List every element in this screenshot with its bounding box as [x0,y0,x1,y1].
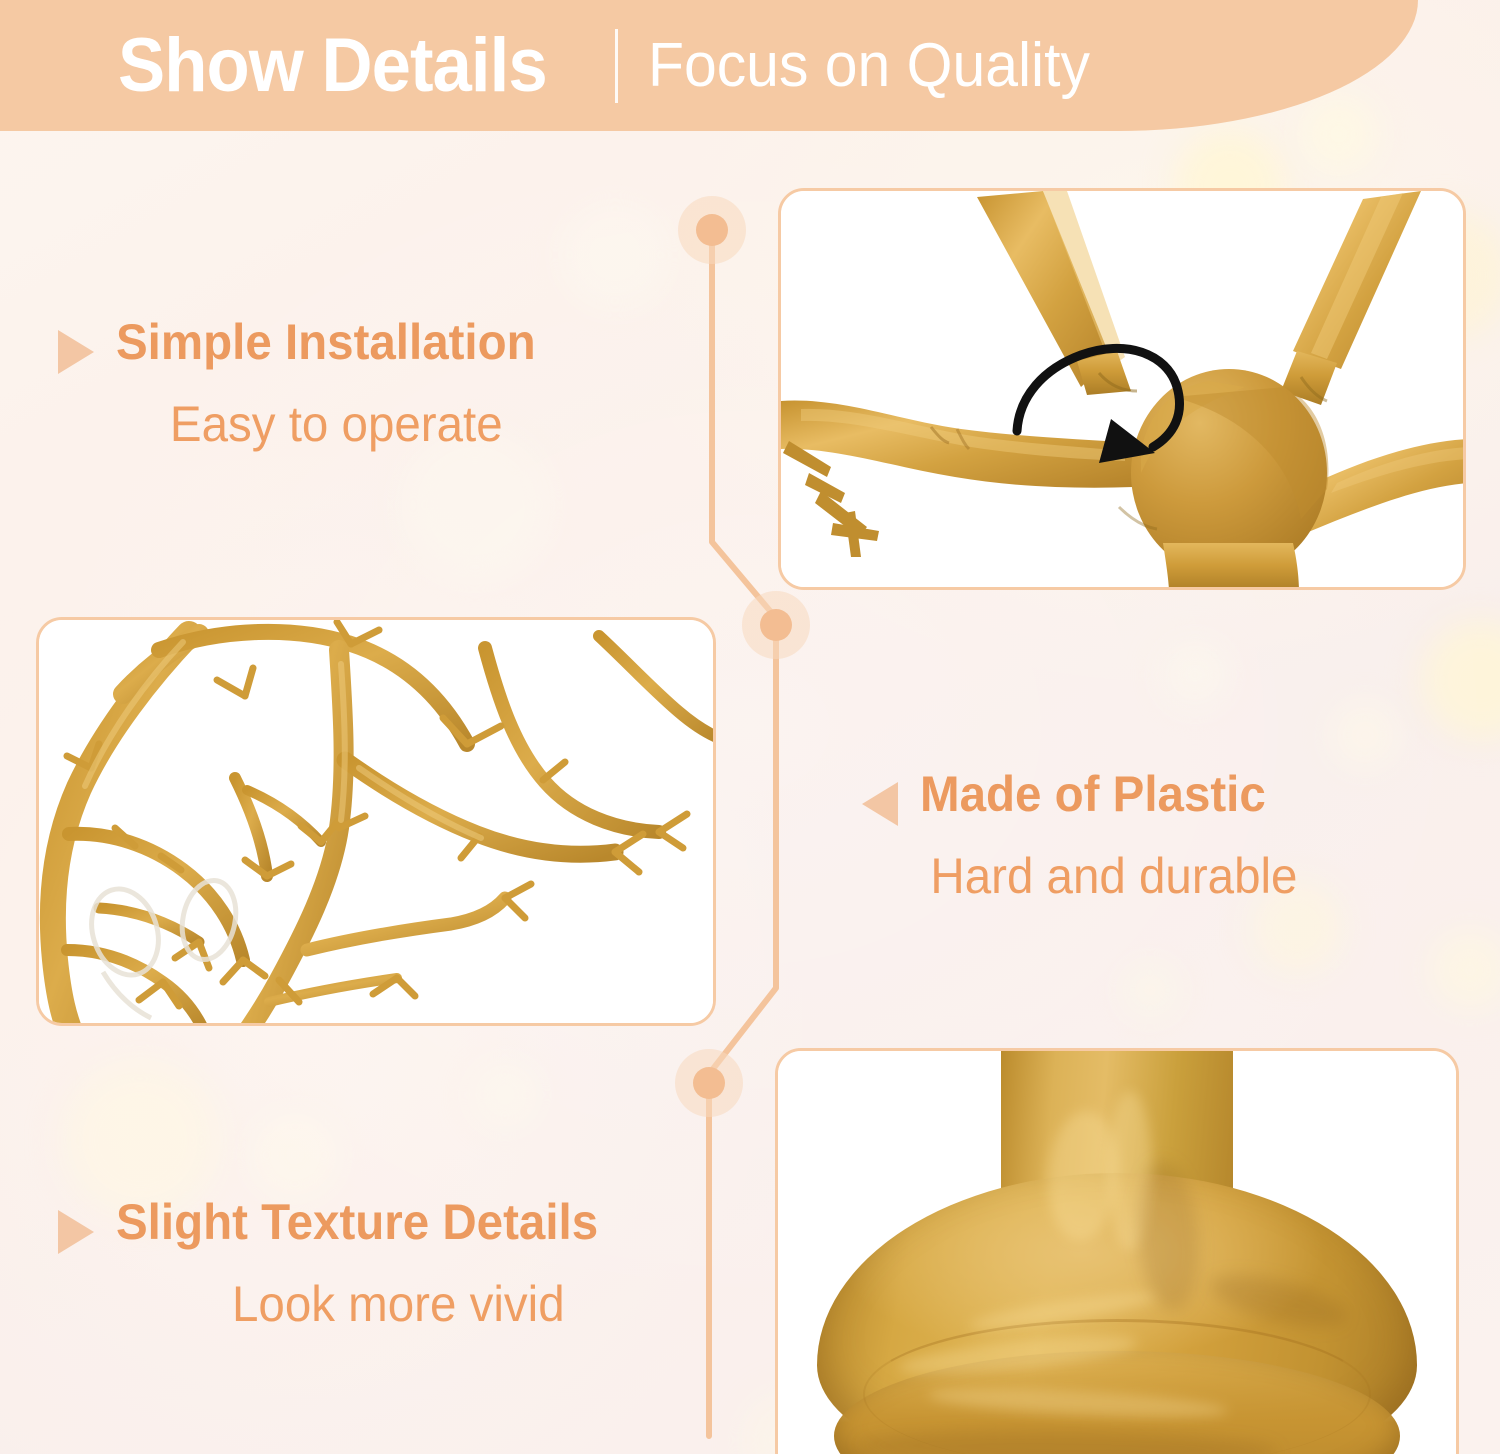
branch-joint-photo-card [778,188,1466,590]
feature-headline: Made of Plastic [920,768,1266,821]
connector-node-icon [675,1049,743,1117]
triangle-right-icon [58,1210,94,1254]
feature-headline-row: Slight Texture Details [58,1196,624,1254]
pedestal-base-photo [778,1051,1456,1454]
pedestal-base-photo-card [775,1048,1459,1454]
branch-joint-illustration [781,191,1463,587]
feature-slight-texture-details: Slight Texture Details Look more vivid [58,1196,624,1331]
branch-joint-photo [781,191,1463,587]
branch-texture-illustration [39,620,713,1023]
header-divider-icon [615,29,618,103]
feature-headline: Simple Installation [116,316,536,369]
feature-made-of-plastic: Made of Plastic Hard and durable [862,768,1320,903]
feature-headline-row: Made of Plastic [862,768,1320,826]
feature-subline: Look more vivid [86,1278,623,1331]
page-title: Show Details [118,28,547,104]
connector-node-icon [678,196,746,264]
connector-node-icon [742,591,810,659]
feature-subline: Hard and durable [862,850,1297,903]
header-banner: Show Details Focus on Quality [0,0,1418,131]
page-subtitle: Focus on Quality [648,35,1090,97]
triangle-right-icon [58,330,94,374]
branch-texture-photo [39,620,713,1023]
feature-subline: Easy to operate [83,398,558,451]
feature-headline-row: Simple Installation [58,316,558,374]
feature-headline: Slight Texture Details [116,1196,598,1249]
header-content: Show Details Focus on Quality [118,0,1113,131]
branch-texture-photo-card [36,617,716,1026]
triangle-left-icon [862,782,898,826]
feature-simple-installation: Simple Installation Easy to operate [58,316,558,451]
